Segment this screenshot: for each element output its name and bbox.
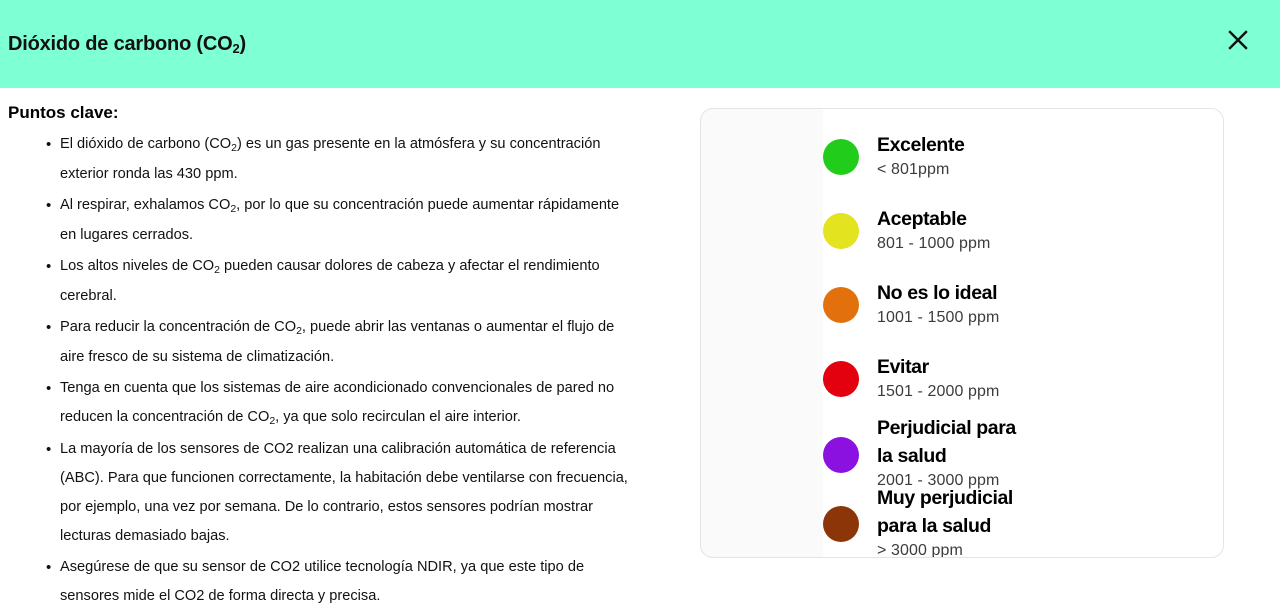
- list-item: Tenga en cuenta que los sistemas de aire…: [60, 374, 690, 433]
- legend-color-dot: [823, 213, 859, 249]
- legend-item-aceptable: Aceptable 801 - 1000 ppm: [823, 192, 1223, 266]
- list-item: Los altos niveles de CO2 pueden causar d…: [60, 252, 690, 311]
- page-title-tail: ): [240, 33, 246, 55]
- legend-item-excelente: Excelente < 801ppm: [823, 118, 1223, 192]
- key-points-heading: Puntos clave:: [8, 102, 690, 124]
- list-item: Asegúrese de que su sensor de CO2 utilic…: [60, 553, 690, 611]
- legend-item-range: > 3000 ppm: [877, 540, 1223, 558]
- list-item: La mayoría de los sensores de CO2 realiz…: [60, 435, 690, 551]
- page-title-subscript: 2: [233, 41, 240, 56]
- list-item: El dióxido de carbono (CO2) es un gas pr…: [60, 130, 690, 189]
- list-item-subscript: 2: [296, 325, 302, 337]
- list-item: Al respirar, exhalamos CO2, por lo que s…: [60, 191, 690, 250]
- legend-color-dot: [823, 506, 859, 542]
- legend-color-dot: [823, 287, 859, 323]
- legend-item-range: 801 - 1000 ppm: [877, 233, 1223, 255]
- legend-item-label: Evitar: [877, 340, 1223, 381]
- legend-item-label: Muy perjudicial para la salud: [877, 484, 1067, 540]
- list-item-text-pre: Para reducir la concentración de CO: [60, 319, 296, 335]
- list-item: Para reducir la concentración de CO2, pu…: [60, 313, 690, 372]
- page-title: Dióxido de carbono (CO2): [8, 34, 246, 54]
- page-title-main: Dióxido de carbono (CO: [8, 33, 233, 55]
- legend-item-range: 1501 - 2000 ppm: [877, 381, 1223, 403]
- legend-item-no-es-lo-ideal: No es lo ideal 1001 - 1500 ppm: [823, 266, 1223, 340]
- legend-card: Excelente < 801ppm Aceptable 801 - 1000 …: [700, 108, 1224, 558]
- legend-list: Excelente < 801ppm Aceptable 801 - 1000 …: [823, 109, 1223, 557]
- list-item-subscript: 2: [231, 142, 237, 154]
- legend-color-dot: [823, 437, 859, 473]
- list-item-subscript: 2: [230, 203, 236, 215]
- legend-item-label: Perjudicial para la salud: [877, 414, 1067, 470]
- legend-item-label: Aceptable: [877, 192, 1223, 233]
- legend-item-muy-perjudicial-para-la-salud: Muy perjudicial para la salud > 3000 ppm: [823, 484, 1223, 554]
- modal-header: Dióxido de carbono (CO2): [0, 0, 1280, 88]
- legend-item-label: Excelente: [877, 118, 1223, 159]
- legend-item-range: 1001 - 1500 ppm: [877, 307, 1223, 329]
- legend-item-label: No es lo ideal: [877, 266, 1223, 307]
- legend-item-evitar: Evitar 1501 - 2000 ppm: [823, 340, 1223, 414]
- legend-section: Excelente < 801ppm Aceptable 801 - 1000 …: [700, 88, 1280, 558]
- list-item-text-post: , ya que solo recirculan el aire interio…: [275, 409, 521, 425]
- key-points-list: El dióxido de carbono (CO2) es un gas pr…: [8, 130, 690, 611]
- list-item-text-pre: El dióxido de carbono (CO: [60, 136, 231, 152]
- list-item-text-pre: Al respirar, exhalamos CO: [60, 197, 230, 213]
- list-item-text-pre: Los altos niveles de CO: [60, 258, 214, 274]
- key-points-section: Puntos clave: El dióxido de carbono (CO2…: [0, 88, 700, 613]
- list-item-text-pre: Asegúrese de que su sensor de CO2 utilic…: [60, 559, 584, 604]
- close-icon: [1226, 28, 1250, 52]
- close-button[interactable]: [1224, 26, 1252, 54]
- legend-color-dot: [823, 361, 859, 397]
- list-item-subscript: 2: [269, 415, 275, 427]
- list-item-subscript: 2: [214, 264, 220, 276]
- modal-body: Puntos clave: El dióxido de carbono (CO2…: [0, 88, 1280, 613]
- legend-item-range: < 801ppm: [877, 159, 1223, 181]
- legend-color-dot: [823, 139, 859, 175]
- list-item-text-pre: La mayoría de los sensores de CO2 realiz…: [60, 441, 628, 544]
- legend-item-perjudicial-para-la-salud: Perjudicial para la salud 2001 - 3000 pp…: [823, 414, 1223, 484]
